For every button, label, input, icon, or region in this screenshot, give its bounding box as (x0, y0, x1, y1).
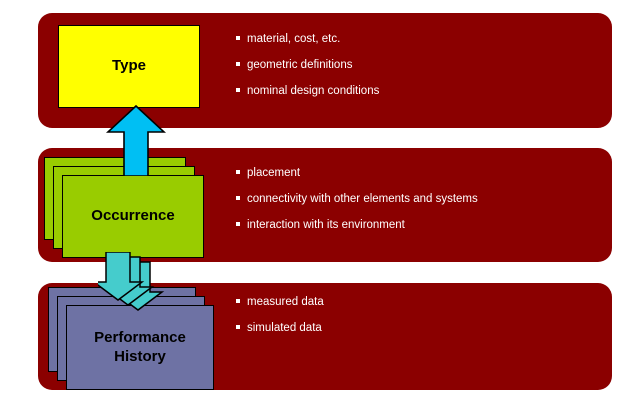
down-arrow-stack-icon (98, 252, 194, 314)
bullet-text: geometric definitions (247, 59, 352, 71)
bullet-item: interaction with its environment (236, 219, 478, 231)
box-performance[interactable]: Performance History (66, 305, 214, 390)
bullet-dot-icon (236, 299, 240, 303)
bullet-list-occurrence: placement connectivity with other elemen… (236, 167, 478, 245)
bullet-text: measured data (247, 296, 324, 308)
box-performance-label-line1: Performance (94, 329, 186, 346)
bullet-item: measured data (236, 296, 324, 308)
bullet-text: connectivity with other elements and sys… (247, 193, 478, 205)
bullet-dot-icon (236, 170, 240, 174)
box-performance-label: Performance History (94, 329, 186, 367)
bullet-dot-icon (236, 88, 240, 92)
bullet-item: connectivity with other elements and sys… (236, 193, 478, 205)
bullet-dot-icon (236, 196, 240, 200)
bullet-dot-icon (236, 325, 240, 329)
bullet-text: simulated data (247, 322, 322, 334)
bullet-item: material, cost, etc. (236, 33, 379, 45)
box-performance-label-line2: History (114, 348, 166, 365)
bullet-item: geometric definitions (236, 59, 379, 71)
bullet-text: material, cost, etc. (247, 33, 340, 45)
bullet-text: interaction with its environment (247, 219, 405, 231)
up-arrow-icon (104, 104, 168, 176)
box-occurrence[interactable]: Occurrence (62, 175, 204, 258)
bullet-item: placement (236, 167, 478, 179)
bullet-dot-icon (236, 36, 240, 40)
diagram-canvas: Type material, cost, etc. geometric defi… (0, 0, 640, 400)
bullet-item: nominal design conditions (236, 85, 379, 97)
bullet-dot-icon (236, 62, 240, 66)
bullet-text: nominal design conditions (247, 85, 379, 97)
bullet-list-type: material, cost, etc. geometric definitio… (236, 33, 379, 111)
box-type[interactable]: Type (58, 25, 200, 108)
bullet-list-performance: measured data simulated data (236, 296, 324, 348)
bullet-dot-icon (236, 222, 240, 226)
bullet-text: placement (247, 167, 300, 179)
bullet-item: simulated data (236, 322, 324, 334)
